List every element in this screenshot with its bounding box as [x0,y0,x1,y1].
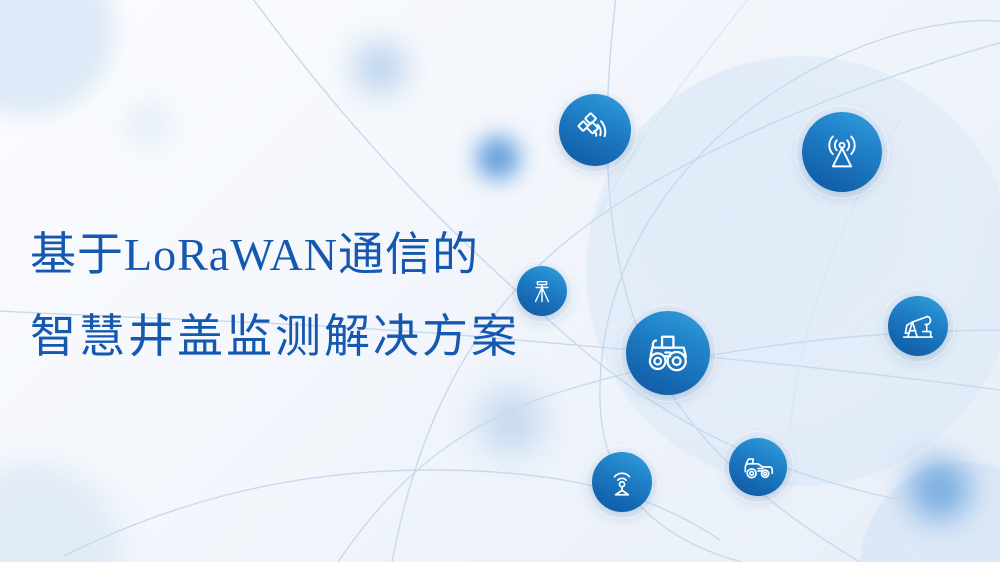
decor-dot-a [354,42,406,94]
decor-blob-top-left [0,0,114,116]
node-wireless-sensor[interactable] [592,452,652,512]
node-harvester[interactable] [729,438,787,496]
slide-canvas: 基于LoRaWAN通信的 智慧井盖监测解决方案 [0,0,1000,562]
satellite-signal-icon [574,109,616,151]
harvester-icon [739,448,777,486]
decor-dot-b [476,136,520,180]
survey-tripod-icon [528,277,556,305]
decor-dot-d [908,458,970,520]
decor-sphere-large [586,56,1000,486]
node-survey-tripod[interactable] [517,266,567,316]
node-tractor[interactable] [626,311,710,395]
tractor-icon [642,327,694,379]
title-block: 基于LoRaWAN通信的 智慧井盖监测解决方案 [30,232,520,360]
wireless-sensor-icon [604,464,640,500]
node-oil-pumpjack[interactable] [888,296,948,356]
antenna-tower-icon [819,129,865,175]
oil-pumpjack-icon [899,307,937,345]
node-satellite[interactable] [559,94,631,166]
title-line-2: 智慧井盖监测解决方案 [30,314,520,360]
decor-dot-c [478,388,544,454]
decor-blob-bottom-left [0,462,122,562]
title-line-1: 基于LoRaWAN通信的 [30,232,520,278]
node-antenna-tower[interactable] [802,112,882,192]
decor-dot-e [128,104,168,144]
decor-sphere-small [860,462,1000,562]
